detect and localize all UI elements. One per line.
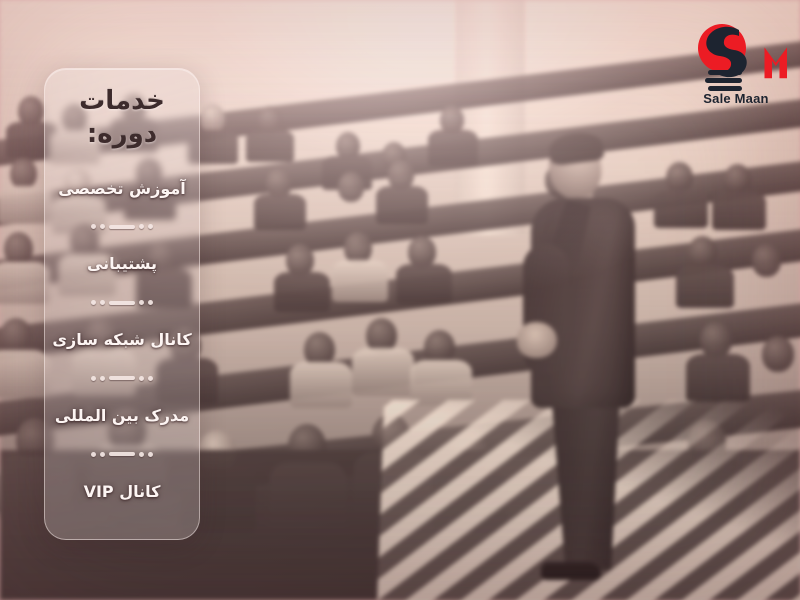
audience-torso <box>352 348 414 396</box>
separator-dot-icon <box>91 224 96 229</box>
audience-torso <box>274 272 330 312</box>
separator-dot-icon <box>148 300 153 305</box>
separator-dot-icon <box>91 452 96 457</box>
separator-bar-icon <box>109 225 135 229</box>
audience-head <box>688 236 717 269</box>
separator-dot-icon <box>139 376 144 381</box>
audience-head <box>752 244 781 277</box>
separator-dot-icon <box>91 376 96 381</box>
logo-wordmark: Sale Maan <box>684 91 788 106</box>
separator-bar-icon <box>109 376 135 380</box>
audience-torso <box>290 362 352 408</box>
separator-dot-icon <box>91 300 96 305</box>
services-list: آموزش تخصصی پشتیبانی کانال شبکه سازی <box>45 150 199 539</box>
separator-dot-icon <box>148 224 153 229</box>
separator-dot-icon <box>100 300 105 305</box>
audience-head <box>0 318 32 354</box>
separator-dot-icon <box>139 300 144 305</box>
speaker-hands <box>517 322 557 358</box>
brand-logo[interactable]: Sale Maan <box>684 14 788 110</box>
promo-graphic: خدمات دوره: آموزش تخصصی پشتیبانی کانال ش… <box>0 0 800 600</box>
service-item-4: مدرک بین المللی <box>51 406 193 427</box>
separator-2 <box>51 298 193 308</box>
speaker-figure <box>505 136 655 586</box>
service-item-2: پشتیبانی <box>51 254 193 275</box>
service-item-3: کانال شبکه سازی <box>51 330 193 351</box>
separator-dot-icon <box>139 224 144 229</box>
separator-dot-icon <box>139 452 144 457</box>
service-item-5: کانال VIP <box>51 482 193 503</box>
audience-torso <box>332 260 388 302</box>
separator-bar-icon <box>109 452 135 456</box>
audience-torso <box>376 186 428 224</box>
audience-head <box>724 164 751 195</box>
audience-head <box>4 232 33 265</box>
audience-torso <box>676 266 734 308</box>
separator-bar-icon <box>109 301 135 305</box>
audience-head <box>700 322 732 358</box>
audience-torso <box>712 192 766 230</box>
speaker-shoe <box>541 562 601 580</box>
separator-3 <box>51 373 193 383</box>
separator-dot-icon <box>100 452 105 457</box>
audience-torso <box>396 264 452 304</box>
separator-1 <box>51 222 193 232</box>
audience-torso <box>654 190 708 228</box>
separator-4 <box>51 449 193 459</box>
audience-head <box>762 336 794 372</box>
audience-head <box>666 162 693 193</box>
separator-dot-icon <box>148 376 153 381</box>
audience-head <box>338 172 364 202</box>
audience-torso <box>0 262 50 304</box>
audience-torso <box>428 130 478 166</box>
services-panel: خدمات دوره: آموزش تخصصی پشتیبانی کانال ش… <box>44 68 200 540</box>
audience-head <box>200 104 225 133</box>
audience-torso <box>246 130 294 162</box>
speaker-legs <box>539 394 627 570</box>
audience-torso <box>0 350 50 398</box>
audience-head <box>10 158 37 189</box>
separator-dot-icon <box>100 224 105 229</box>
separator-dot-icon <box>100 376 105 381</box>
audience-torso <box>254 194 306 230</box>
separator-dot-icon <box>148 452 153 457</box>
audience-torso <box>686 354 750 402</box>
service-item-1: آموزش تخصصی <box>51 179 193 200</box>
panel-title: خدمات دوره: <box>45 85 199 150</box>
